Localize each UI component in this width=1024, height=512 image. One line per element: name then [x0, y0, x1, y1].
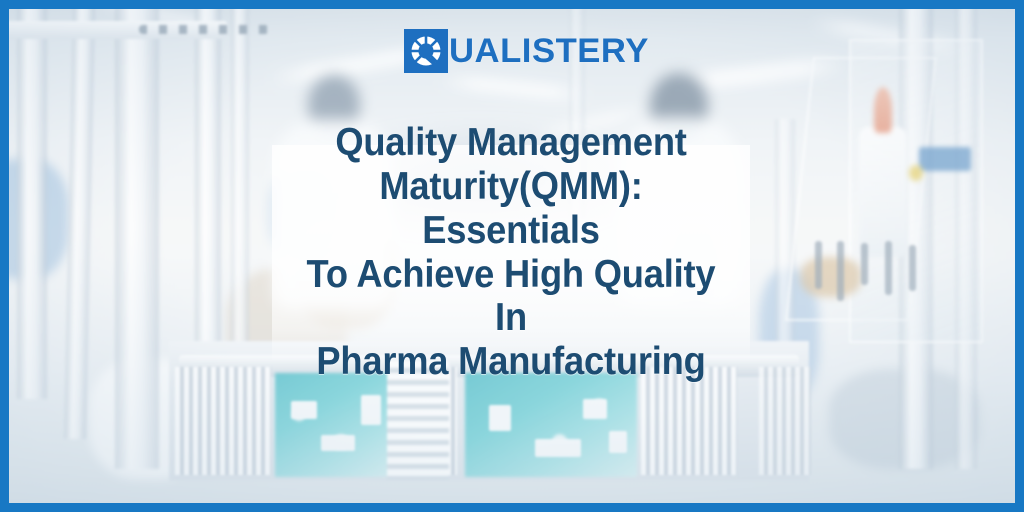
hanging-hook	[909, 245, 916, 291]
machine-column	[115, 9, 159, 469]
board-component	[361, 395, 381, 425]
hanging-hook	[861, 243, 868, 285]
yellow-indicator	[909, 165, 923, 181]
board-component	[535, 439, 581, 457]
board-component	[489, 405, 511, 431]
hero-title-panel: Quality Management Maturity(QMM): Essent…	[272, 145, 750, 360]
orange-nozzle	[874, 87, 892, 133]
blue-label-tag	[919, 147, 971, 171]
circuit-board-tray	[275, 373, 395, 477]
board-component	[291, 401, 317, 419]
machine-column	[231, 9, 249, 369]
perforated-rail-holes	[139, 25, 269, 34]
board-component	[583, 399, 607, 419]
hanging-tool	[801, 257, 861, 297]
hanging-hook	[837, 241, 844, 301]
circular-q-logo-icon	[404, 29, 448, 73]
heatsink-fin-bank	[175, 367, 271, 475]
page-title: Quality Management Maturity(QMM): Essent…	[289, 121, 734, 383]
dispenser-bottle	[859, 127, 907, 257]
heatsink-fin-bank	[759, 367, 811, 475]
hanging-hook	[815, 241, 822, 289]
qualistery-logo[interactable]: UALISTERY	[404, 28, 645, 74]
hanging-hook	[885, 241, 892, 295]
logo-wordmark: UALISTERY	[449, 34, 649, 68]
blog-hero-banner: UALISTERY Quality Management Maturity(QM…	[0, 0, 1024, 512]
board-component	[321, 435, 355, 451]
machine-column	[17, 9, 47, 399]
board-component	[609, 431, 627, 453]
